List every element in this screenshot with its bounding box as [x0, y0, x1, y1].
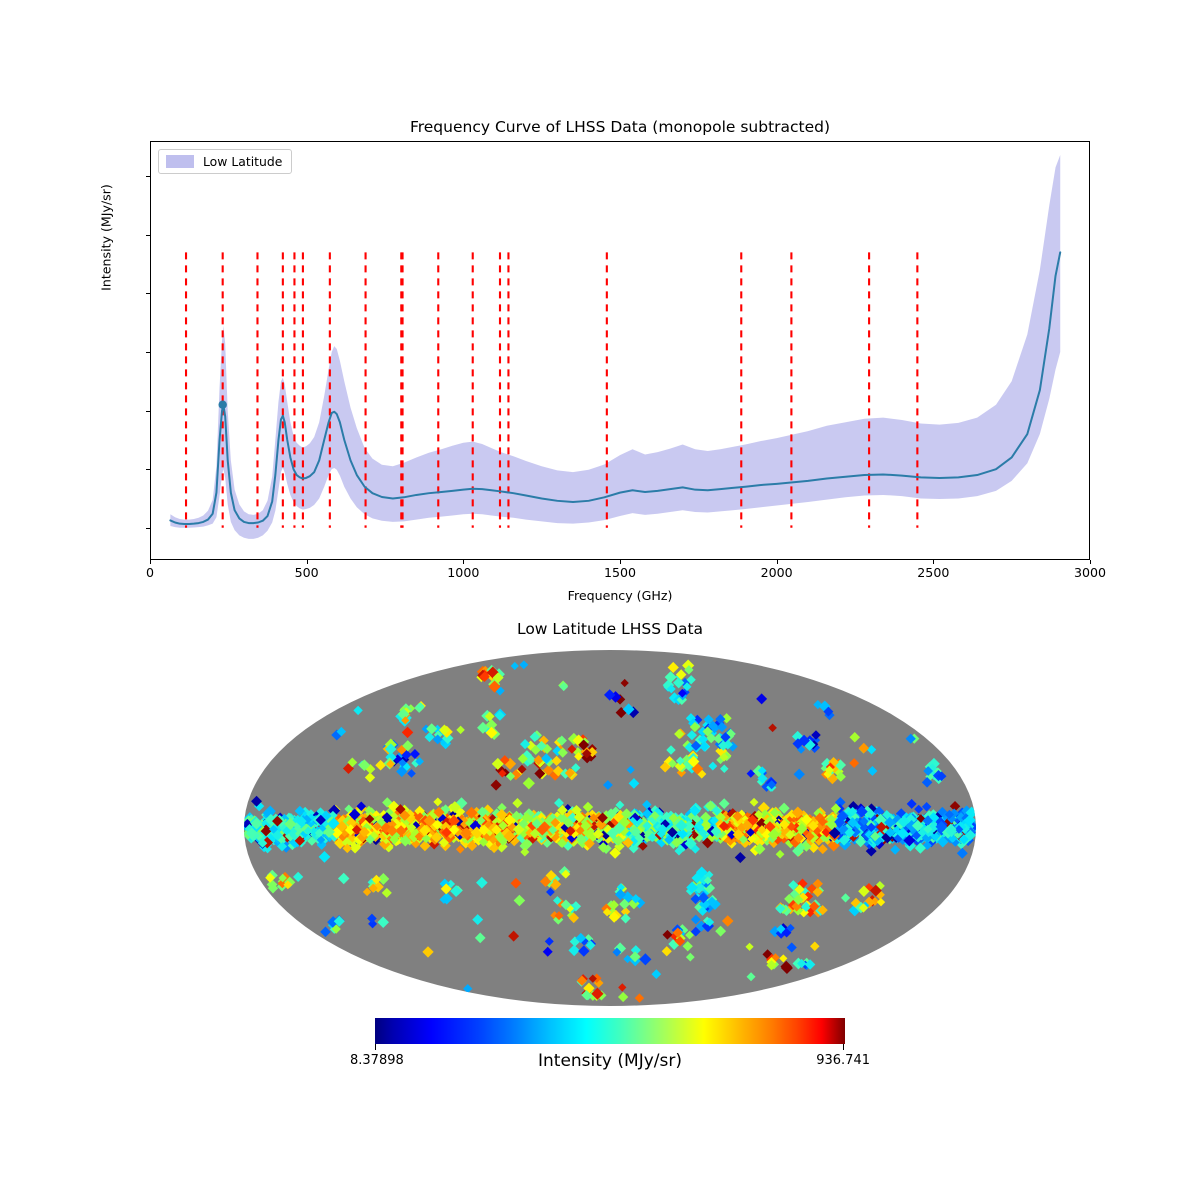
spectrum-x-tick-label: 1000 — [423, 565, 503, 580]
spectrum-x-tick-label: 2500 — [893, 565, 973, 580]
colorbar-tick-min — [375, 1044, 376, 1050]
spectrum-legend[interactable]: Low Latitude — [158, 149, 292, 174]
figure-canvas: Frequency Curve of LHSS Data (monopole s… — [0, 0, 1200, 1200]
spectrum-x-tick-mark — [307, 560, 308, 564]
legend-label-low-latitude: Low Latitude — [203, 154, 282, 169]
spectrum-x-tick-mark — [150, 560, 151, 564]
legend-swatch-low-latitude — [166, 155, 194, 168]
sky-map-svg — [240, 648, 980, 1008]
spectrum-svg — [150, 141, 1090, 560]
colorbar-gradient — [375, 1018, 845, 1044]
spectrum-x-tick-label: 500 — [267, 565, 347, 580]
spectrum-y-axis-label: Intensity (MJy/sr) — [99, 118, 114, 358]
colorbar-tick-max — [843, 1044, 844, 1050]
spectrum-x-tick-mark — [777, 560, 778, 564]
spectrum-plot-area[interactable]: Low Latitude — [150, 141, 1090, 560]
peak-marker-group — [218, 401, 226, 409]
spectrum-x-tick-mark — [933, 560, 934, 564]
spectrum-title: Frequency Curve of LHSS Data (monopole s… — [150, 118, 1090, 136]
sky-map-title: Low Latitude LHSS Data — [360, 620, 860, 638]
spectrum-x-tick-mark — [463, 560, 464, 564]
spectrum-x-tick-label: 0 — [110, 565, 190, 580]
spectrum-x-tick-label: 2000 — [737, 565, 817, 580]
spectrum-x-axis-label: Frequency (GHz) — [150, 588, 1090, 603]
sky-map-panel[interactable] — [240, 648, 980, 1008]
spectrum-x-tick-mark — [1090, 560, 1091, 564]
colorbar[interactable]: 8.37898 936.741 Intensity (MJy/sr) — [375, 1018, 845, 1044]
spectrum-x-tick-label: 3000 — [1050, 565, 1130, 580]
spectrum-x-tick-label: 1500 — [580, 565, 660, 580]
colorbar-label: Intensity (MJy/sr) — [375, 1051, 845, 1071]
spectrum-x-tick-mark — [620, 560, 621, 564]
